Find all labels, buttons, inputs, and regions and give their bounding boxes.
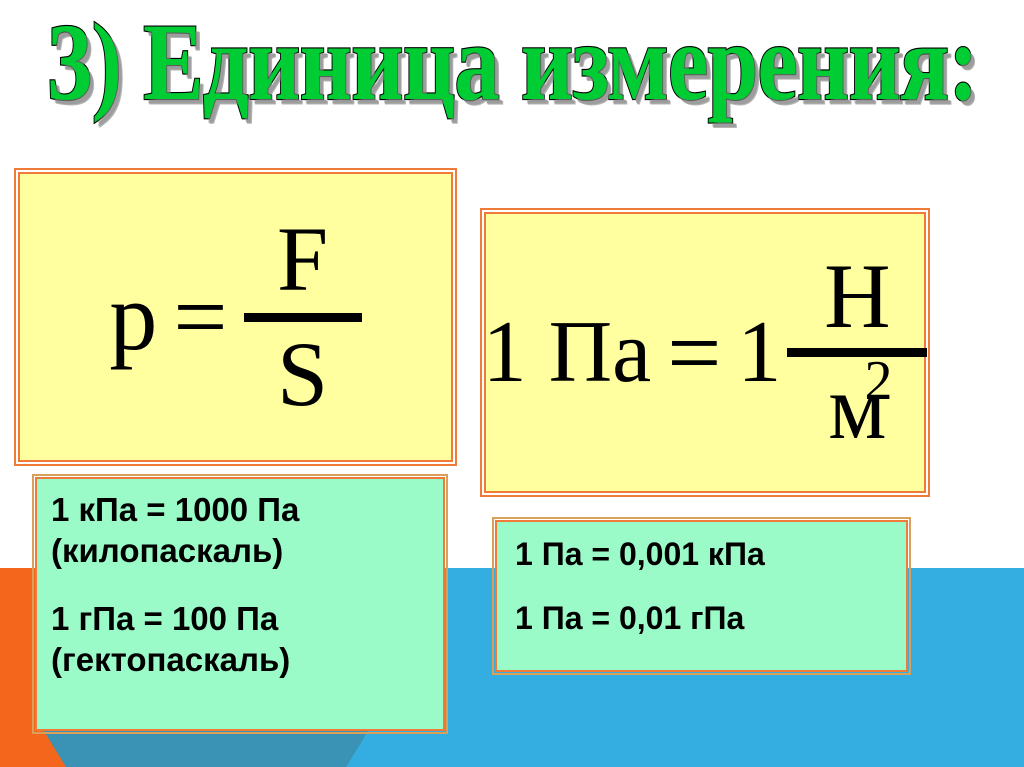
units-box-multiples: 1 кПа = 1000 Па (килопаскаль) 1 гПа = 10… (35, 477, 445, 731)
newton-per-square-metre-fraction: Н м2 (787, 248, 927, 457)
unit-line: (килопаскаль) (51, 530, 443, 571)
unit-line: 1 кПа = 1000 Па (51, 489, 443, 530)
unit-line: (гектопаскаль) (51, 639, 443, 680)
unit-line: 1 Па = 0,001 кПа (515, 534, 906, 574)
pressure-fraction: F S (244, 211, 362, 424)
fraction-bar (244, 313, 362, 322)
slide-title-text: 3) Единица измерения: (47, 6, 978, 122)
units-box-submultiples: 1 Па = 0,001 кПа 1 Па = 0,01 гПа (495, 520, 908, 672)
pressure-denominator-area: S (269, 326, 336, 424)
pascal-definition-box: 1 Па = 1 Н м2 (484, 212, 926, 493)
pascal-left-term: 1 Па (483, 309, 652, 397)
pressure-numerator-force: F (269, 211, 336, 309)
metre-denominator: м2 (822, 359, 892, 457)
pressure-symbol: p (109, 269, 157, 365)
unit-line: 1 Па = 0,01 гПа (515, 598, 906, 638)
background-orange-band (0, 568, 36, 735)
metre-exponent: 2 (864, 353, 892, 409)
unit-line: 1 гПа = 100 Па (51, 598, 443, 639)
pressure-equals-sign: = (157, 269, 243, 365)
newton-numerator: Н (818, 248, 896, 346)
spacer (51, 572, 443, 598)
pressure-formula-box: p = F S (18, 172, 453, 462)
spacer (515, 574, 906, 598)
slide-title: 3) Единица измерения: (0, 6, 1024, 110)
pascal-definition-formula: 1 Па = 1 Н м2 (486, 214, 924, 491)
pascal-equals-sign: = (651, 305, 737, 401)
pressure-formula: p = F S (20, 174, 451, 460)
pascal-coefficient: 1 (737, 309, 781, 397)
